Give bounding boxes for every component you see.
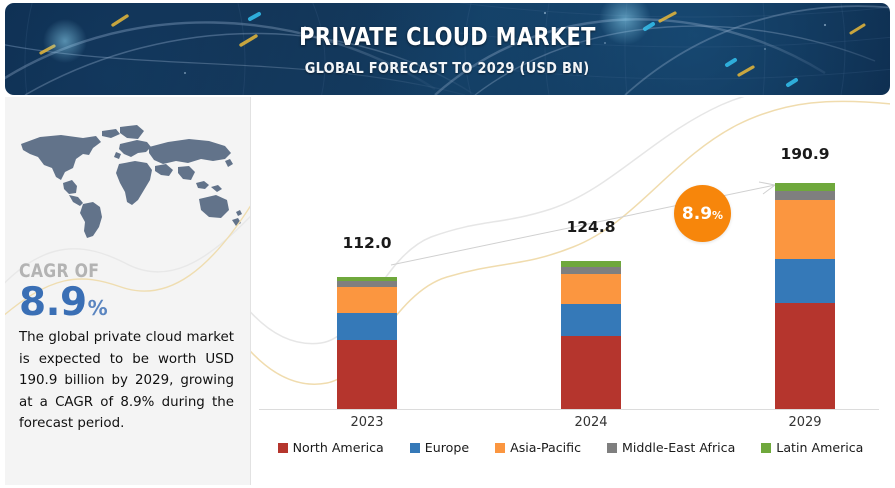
cagr-value: 8.9 — [19, 283, 87, 322]
legend-swatch-middle-east-africa — [607, 443, 617, 453]
legend-label-latin-america: Latin America — [776, 440, 863, 455]
cagr-badge-percent: % — [712, 209, 723, 222]
segment-asia-pacific[interactable] — [337, 287, 397, 313]
segment-latin-america[interactable] — [775, 183, 835, 191]
segment-asia-pacific[interactable] — [775, 200, 835, 259]
x-axis-line — [259, 409, 879, 410]
segment-asia-pacific[interactable] — [561, 274, 621, 305]
cagr-label: CAGR OF — [19, 260, 101, 282]
x-label-2029: 2029 — [735, 415, 875, 430]
stacked-bar-2023[interactable] — [337, 277, 397, 409]
chart-legend: North America Europe Asia-Pacific Middle… — [251, 440, 890, 455]
header-banner: PRIVATE CLOUD MARKET GLOBAL FORECAST TO … — [5, 3, 890, 95]
left-info-panel: CAGR OF 8.9 % The global private cloud m… — [5, 97, 251, 485]
legend-label-north-america: North America — [293, 440, 384, 455]
legend-swatch-north-america — [278, 443, 288, 453]
legend-swatch-latin-america — [761, 443, 771, 453]
legend-item-middle-east-africa[interactable]: Middle-East Africa — [607, 440, 735, 455]
legend-item-europe[interactable]: Europe — [410, 440, 469, 455]
legend-label-asia-pacific: Asia-Pacific — [510, 440, 581, 455]
plot-region: 112.0 2023 124.8 2024 190.9 — [251, 97, 890, 437]
legend-item-asia-pacific[interactable]: Asia-Pacific — [495, 440, 581, 455]
legend-item-north-america[interactable]: North America — [278, 440, 384, 455]
segment-middle-east-africa[interactable] — [775, 191, 835, 199]
segment-north-america[interactable] — [561, 336, 621, 409]
x-label-2023: 2023 — [297, 415, 437, 430]
segment-north-america[interactable] — [337, 340, 397, 409]
panel-description: The global private cloud market is expec… — [19, 327, 234, 435]
segment-north-america[interactable] — [775, 303, 835, 410]
x-label-2024: 2024 — [521, 415, 661, 430]
cagr-badge-value: 8.9 — [682, 204, 712, 224]
cagr-percent-sign: % — [88, 296, 108, 320]
cagr-block: CAGR OF 8.9 % — [19, 260, 108, 322]
cagr-badge[interactable]: 8.9 % — [674, 185, 731, 242]
legend-swatch-europe — [410, 443, 420, 453]
bar-value-2024: 124.8 — [531, 218, 651, 236]
segment-europe[interactable] — [337, 313, 397, 340]
infographic-root: PRIVATE CLOUD MARKET GLOBAL FORECAST TO … — [0, 0, 895, 488]
page-title: PRIVATE CLOUD MARKET — [299, 22, 596, 51]
legend-label-middle-east-africa: Middle-East Africa — [622, 440, 735, 455]
legend-label-europe: Europe — [425, 440, 469, 455]
stacked-bar-2029[interactable] — [775, 183, 835, 409]
header-text-block: PRIVATE CLOUD MARKET GLOBAL FORECAST TO … — [5, 3, 890, 95]
legend-item-latin-america[interactable]: Latin America — [761, 440, 863, 455]
page-subtitle: GLOBAL FORECAST TO 2029 (USD BN) — [305, 59, 590, 77]
bar-value-2023: 112.0 — [307, 234, 427, 252]
bar-value-2029: 190.9 — [745, 145, 865, 163]
segment-europe[interactable] — [775, 259, 835, 303]
legend-swatch-asia-pacific — [495, 443, 505, 453]
stacked-bar-2024[interactable] — [561, 261, 621, 409]
segment-europe[interactable] — [561, 304, 621, 335]
chart-area: 112.0 2023 124.8 2024 190.9 — [251, 97, 890, 485]
